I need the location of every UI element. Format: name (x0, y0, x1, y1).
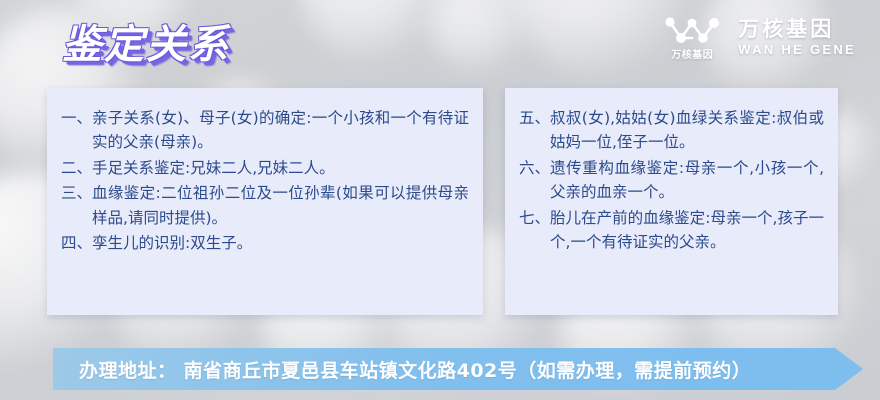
poster-root: 鉴定关系 (0, 0, 880, 400)
content-panels: 一、 亲子关系(女)、母子(女)的确定:一个小孩和一个有待证实的父亲(母亲)。 … (47, 88, 838, 315)
brand-mark: 万核基因 (662, 14, 722, 61)
list-item-text: 孪生儿的识别:双生子。 (92, 231, 469, 255)
list-item-text: 胎儿在产前的血缘鉴定:母亲一个,孩子一个,一个有待证实的父亲。 (550, 206, 824, 255)
relationship-list-left: 一、 亲子关系(女)、母子(女)的确定:一个小孩和一个有待证实的父亲(母亲)。 … (61, 106, 469, 256)
panel-left: 一、 亲子关系(女)、母子(女)的确定:一个小孩和一个有待证实的父亲(母亲)。 … (47, 88, 483, 315)
brand-name-en: WAN HE GENE (738, 43, 856, 57)
footer-address-banner: 办理地址： 南省商丘市夏邑县车站镇文化路402号（如需办理，需提前预约） (53, 348, 863, 390)
list-item-number: 三、 (61, 181, 92, 205)
brand-logo: 万核基因 万核基因 WAN HE GENE (662, 14, 856, 61)
list-item: 七、 胎儿在产前的血缘鉴定:母亲一个,孩子一个,一个有待证实的父亲。 (519, 206, 824, 255)
molecule-nodes-icon (662, 14, 722, 48)
list-item-text: 亲子关系(女)、母子(女)的确定:一个小孩和一个有待证实的父亲(母亲)。 (92, 106, 469, 155)
list-item-text: 遗传重构血缘鉴定:母亲一个,小孩一个,父亲的血亲一个。 (550, 156, 824, 205)
list-item-number: 四、 (61, 231, 92, 255)
list-item-number: 六、 (519, 156, 550, 180)
list-item-number: 一、 (61, 106, 92, 130)
header: 鉴定关系 (0, 0, 880, 88)
list-item: 四、 孪生儿的识别:双生子。 (61, 231, 469, 255)
brand-mark-word: 万核基因 (671, 51, 713, 61)
list-item-number: 五、 (519, 106, 550, 130)
list-item-text: 叔叔(女),姑姑(女)血绿关系鉴定:叔伯或姑妈一位,侄子一位。 (550, 106, 824, 155)
list-item-text: 血缘鉴定:二位祖孙二位及一位孙辈(如果可以提供母亲样品,请同时提供)。 (92, 181, 469, 230)
list-item: 一、 亲子关系(女)、母子(女)的确定:一个小孩和一个有待证实的父亲(母亲)。 (61, 106, 469, 155)
list-item-text: 手足关系鉴定:兄妹二人,兄妹二人。 (92, 156, 469, 180)
brand-text: 万核基因 WAN HE GENE (738, 18, 856, 57)
list-item: 五、 叔叔(女),姑姑(女)血绿关系鉴定:叔伯或姑妈一位,侄子一位。 (519, 106, 824, 155)
panel-right: 五、 叔叔(女),姑姑(女)血绿关系鉴定:叔伯或姑妈一位,侄子一位。 六、 遗传… (505, 88, 838, 315)
relationship-list-right: 五、 叔叔(女),姑姑(女)血绿关系鉴定:叔伯或姑妈一位,侄子一位。 六、 遗传… (519, 106, 824, 255)
footer-address-text: 办理地址： 南省商丘市夏邑县车站镇文化路402号（如需办理，需提前预约） (53, 356, 751, 383)
list-item-number: 七、 (519, 206, 550, 230)
list-item-number: 二、 (61, 156, 92, 180)
list-item: 三、 血缘鉴定:二位祖孙二位及一位孙辈(如果可以提供母亲样品,请同时提供)。 (61, 181, 469, 230)
list-item: 六、 遗传重构血缘鉴定:母亲一个,小孩一个,父亲的血亲一个。 (519, 156, 824, 205)
list-item: 二、 手足关系鉴定:兄妹二人,兄妹二人。 (61, 156, 469, 180)
brand-name-cn: 万核基因 (738, 18, 856, 41)
page-title: 鉴定关系 (62, 12, 230, 70)
